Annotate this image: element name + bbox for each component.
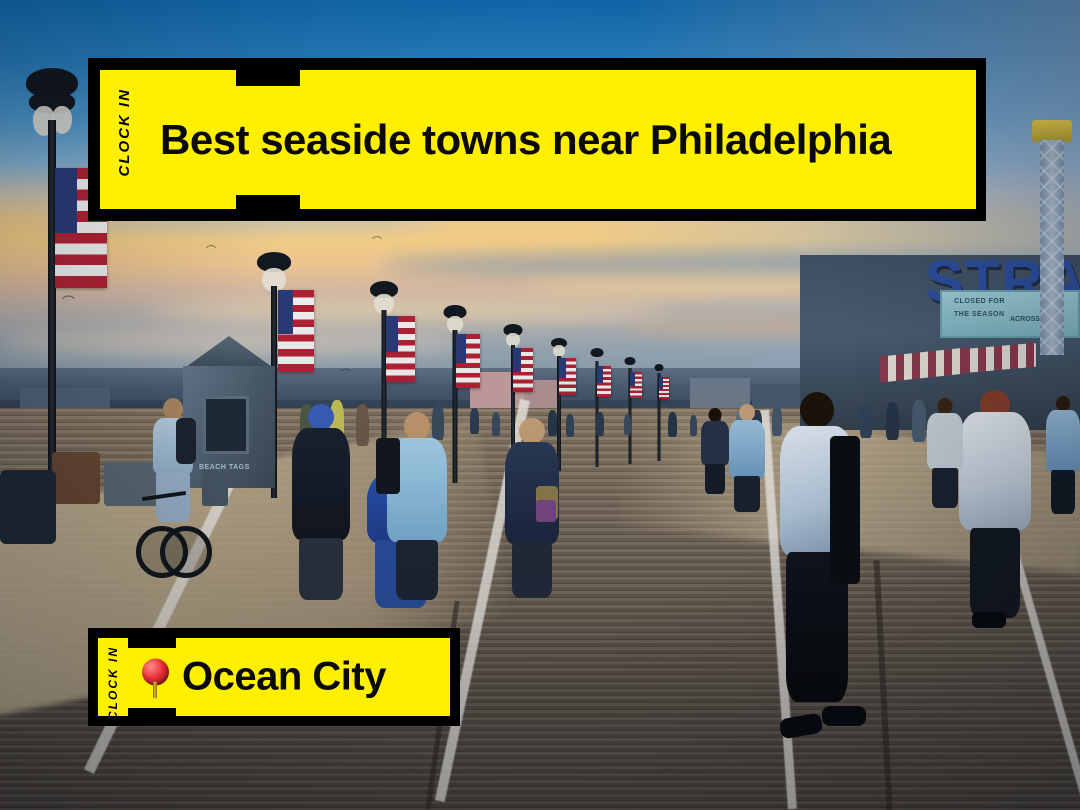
seagull-icon: ⌒ [206, 247, 216, 257]
person-dark-jacket [290, 404, 352, 604]
seated-person [0, 470, 56, 544]
american-flag [513, 348, 533, 392]
messenger-bag [830, 436, 860, 584]
seagull-icon: ⌒ [62, 296, 75, 309]
booth-roof [170, 336, 288, 370]
trash-can [52, 452, 100, 504]
american-flag [659, 377, 669, 399]
shoe [972, 612, 1006, 628]
person-midground [728, 404, 766, 512]
beach-tag-booth: BEACH TAGS [183, 336, 275, 488]
lamp-post [588, 347, 606, 467]
distant-person [668, 412, 677, 437]
drop-tower-ride [1037, 120, 1067, 355]
person-midground [700, 408, 730, 494]
bicycle [136, 492, 212, 580]
american-flag [456, 334, 480, 388]
american-flag [597, 366, 611, 397]
distant-person [886, 402, 899, 440]
bicycle-wheel [160, 526, 212, 578]
tower-cap [1032, 120, 1072, 142]
badge-notch-top [128, 628, 176, 648]
shoe [822, 706, 866, 726]
american-flag [386, 316, 415, 382]
handbag [536, 500, 556, 522]
hero-banner: CLOCK IN Best seaside towns near Philade… [88, 58, 986, 221]
clock-in-label: CLOCK IN [106, 646, 120, 720]
distant-person [356, 404, 369, 446]
distant-person [566, 414, 574, 437]
tower-truss [1040, 140, 1064, 355]
american-flag [630, 372, 642, 398]
location-pin-icon [140, 656, 170, 698]
distant-person [912, 400, 926, 442]
american-flag [559, 358, 576, 395]
seagull-icon: ⌒ [340, 370, 351, 381]
page-title: Best seaside towns near Philadelphia [160, 116, 891, 164]
clock-in-label: CLOCK IN [116, 88, 133, 177]
distant-person [492, 412, 500, 436]
shoulder-bag [376, 438, 400, 494]
person-midground [1046, 396, 1080, 516]
image-canvas: ⌒ ⌒ ⌒ ⌒ BEACH TAGS STRA CLOSED FOR THE S… [0, 0, 1080, 810]
backpack [176, 418, 196, 464]
location-name: Ocean City [182, 655, 386, 700]
person-midground [926, 398, 964, 508]
american-flag [278, 290, 314, 372]
distant-person [860, 404, 872, 438]
location-badge: CLOCK IN Ocean City [88, 628, 460, 726]
banner-notch-bottom [236, 195, 300, 221]
badge-notch-bottom [128, 708, 176, 726]
seagull-icon: ⌒ [372, 238, 382, 248]
distant-person [596, 412, 604, 436]
booth-window [203, 396, 249, 454]
banner-notch-top [236, 58, 300, 86]
location-row: Ocean City [140, 655, 386, 700]
distant-person [690, 415, 697, 436]
distant-person [470, 408, 479, 434]
person-white-hoodie [958, 390, 1032, 620]
distant-person [624, 414, 631, 435]
